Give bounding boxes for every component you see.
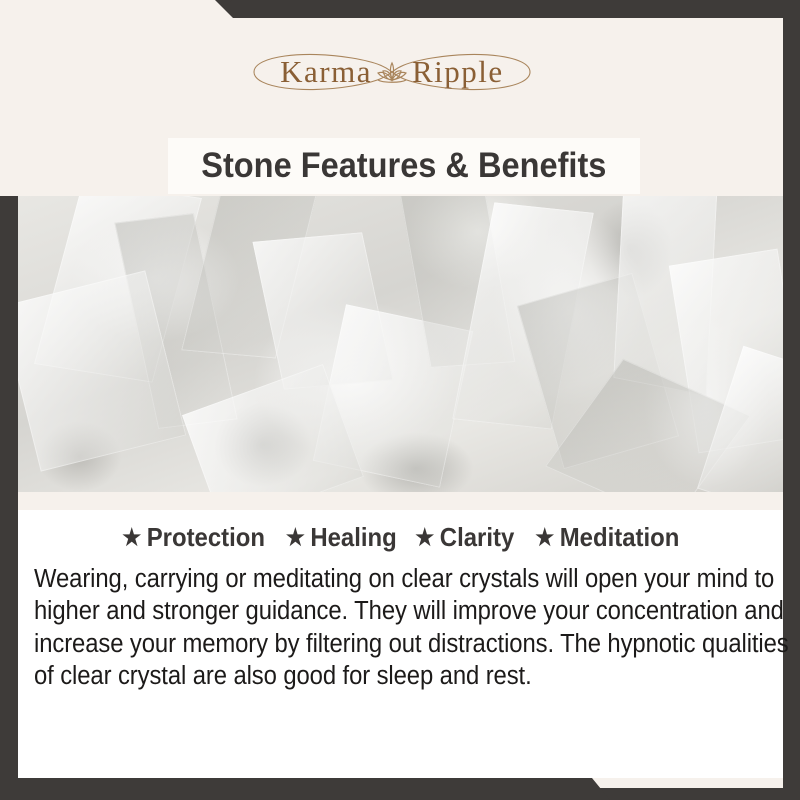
feature-list: ★ Protection ★ Healing ★ Clarity ★ Medit… xyxy=(18,522,783,553)
star-icon: ★ xyxy=(535,526,554,549)
feature-label: Clarity xyxy=(440,522,514,553)
feature-label: Meditation xyxy=(560,522,680,553)
feature-item-protection: ★ Protection xyxy=(122,522,265,553)
feature-label: Protection xyxy=(146,522,264,553)
title-banner: Stone Features & Benefits xyxy=(168,138,640,194)
feature-item-clarity: ★ Clarity xyxy=(416,522,515,553)
star-icon: ★ xyxy=(416,526,435,549)
frame-left-edge xyxy=(0,196,18,800)
hero-image: White Crystal xyxy=(18,196,783,492)
frame-top-bar xyxy=(215,0,800,18)
description-text: Wearing, carrying or meditating on clear… xyxy=(34,563,799,693)
poster-root: Karma Ripple Stone Features & Benefits W… xyxy=(0,0,800,800)
star-icon: ★ xyxy=(122,526,141,549)
star-icon: ★ xyxy=(286,526,305,549)
content-card: ★ Protection ★ Healing ★ Clarity ★ Medit… xyxy=(18,510,783,778)
page-title: Stone Features & Benefits xyxy=(201,146,606,186)
frame-top-diagonal xyxy=(0,0,233,18)
frame-bottom-bar xyxy=(0,778,610,800)
feature-item-healing: ★ Healing xyxy=(286,522,397,553)
feature-item-meditation: ★ Meditation xyxy=(535,522,679,553)
feature-label: Healing xyxy=(310,522,396,553)
